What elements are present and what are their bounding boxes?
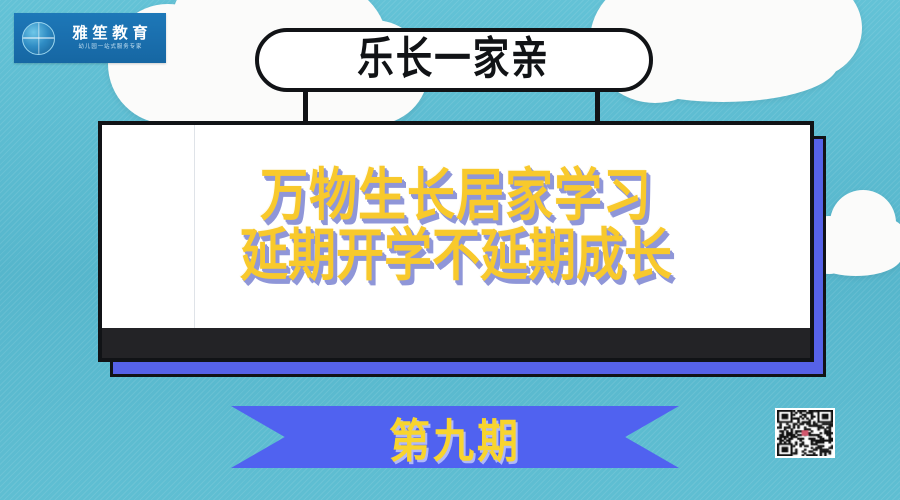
content-card: 万物生长居家学习 延期开学不延期成长 (98, 121, 814, 362)
qr-code[interactable] (775, 408, 835, 458)
brand-text-group: 雅笙教育 幼儿园一站式服务专家 (62, 26, 158, 51)
brand-logo-badge[interactable]: 雅笙教育 幼儿园一站式服务专家 (14, 13, 166, 63)
headline-line-1: 万物生长居家学习 (260, 166, 652, 227)
card-footer-bar (102, 328, 810, 358)
issue-ribbon: 第九期 (231, 406, 679, 468)
title-pill-text: 乐长一家亲 (358, 38, 550, 82)
issue-number-label: 第九期 (389, 403, 521, 470)
card-content: 万物生长居家学习 延期开学不延期成长 (102, 125, 810, 328)
brand-slogan: 幼儿园一站式服务专家 (78, 45, 143, 50)
brand-name: 雅笙教育 (68, 26, 153, 42)
qr-code-image (777, 410, 833, 456)
headline-line-2: 延期开学不延期成长 (240, 226, 672, 287)
globe-icon (22, 22, 55, 55)
poster-canvas: 雅笙教育 幼儿园一站式服务专家 乐长一家亲 万物生长居家学习 延期开学不延期成长… (0, 0, 900, 500)
title-pill: 乐长一家亲 (255, 28, 653, 92)
